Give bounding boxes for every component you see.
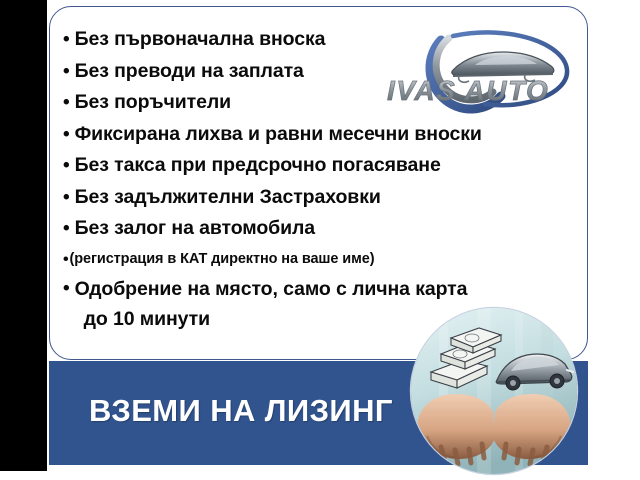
advert-canvas: • Без първоначална вноска • Без преводи … bbox=[0, 0, 640, 480]
bullet-icon: • bbox=[63, 274, 70, 304]
benefit-text: Фиксирана лихва и равни месечни вноски bbox=[75, 119, 482, 151]
list-item: • Без такса при предсрочно погасяване bbox=[63, 150, 593, 182]
benefit-note-text: (регистрация в КАТ директно на ваше име) bbox=[70, 245, 375, 274]
benefit-text: Без такса при предсрочно погасяване bbox=[75, 150, 441, 182]
cta-headline: ВЗЕМИ НА ЛИЗИНГ bbox=[89, 393, 393, 429]
benefit-text: Без поръчители bbox=[75, 87, 231, 119]
bullet-icon: • bbox=[63, 87, 70, 119]
list-item: • Без задължителни Застраховки bbox=[63, 182, 593, 214]
list-item: • Фиксирана лихва и равни месечни вноски bbox=[63, 119, 593, 151]
svg-text:IVAS AUTO: IVAS AUTO bbox=[387, 75, 549, 106]
bullet-icon: • bbox=[63, 150, 70, 182]
benefit-text: Одобрение на място, само с лична картадо… bbox=[75, 274, 468, 334]
bullet-icon: • bbox=[63, 182, 70, 214]
benefit-text: Без залог на автомобила bbox=[75, 213, 315, 245]
benefit-text: Без първоначална вноска bbox=[75, 24, 326, 56]
bullet-icon: • bbox=[63, 56, 70, 88]
bullet-icon: • bbox=[63, 213, 70, 245]
bullet-icon: • bbox=[63, 24, 70, 56]
letterbox-bar-left bbox=[0, 0, 47, 471]
benefit-text-line-2: до 10 минути bbox=[75, 304, 468, 334]
benefit-text-line-1: Одобрение на място, само с лична карта bbox=[75, 278, 468, 300]
ivas-auto-logo: IVAS AUTO bbox=[383, 24, 575, 116]
bullet-icon: • bbox=[63, 245, 69, 274]
benefit-text: Без преводи на заплата bbox=[75, 56, 304, 88]
bullet-icon: • bbox=[63, 119, 70, 151]
list-item: • Без залог на автомобила bbox=[63, 213, 593, 245]
benefit-text: Без задължителни Застраховки bbox=[75, 182, 381, 214]
hands-holding-money-and-car-photo bbox=[411, 308, 577, 474]
list-item-note: • (регистрация в КАТ директно на ваше им… bbox=[63, 245, 593, 274]
